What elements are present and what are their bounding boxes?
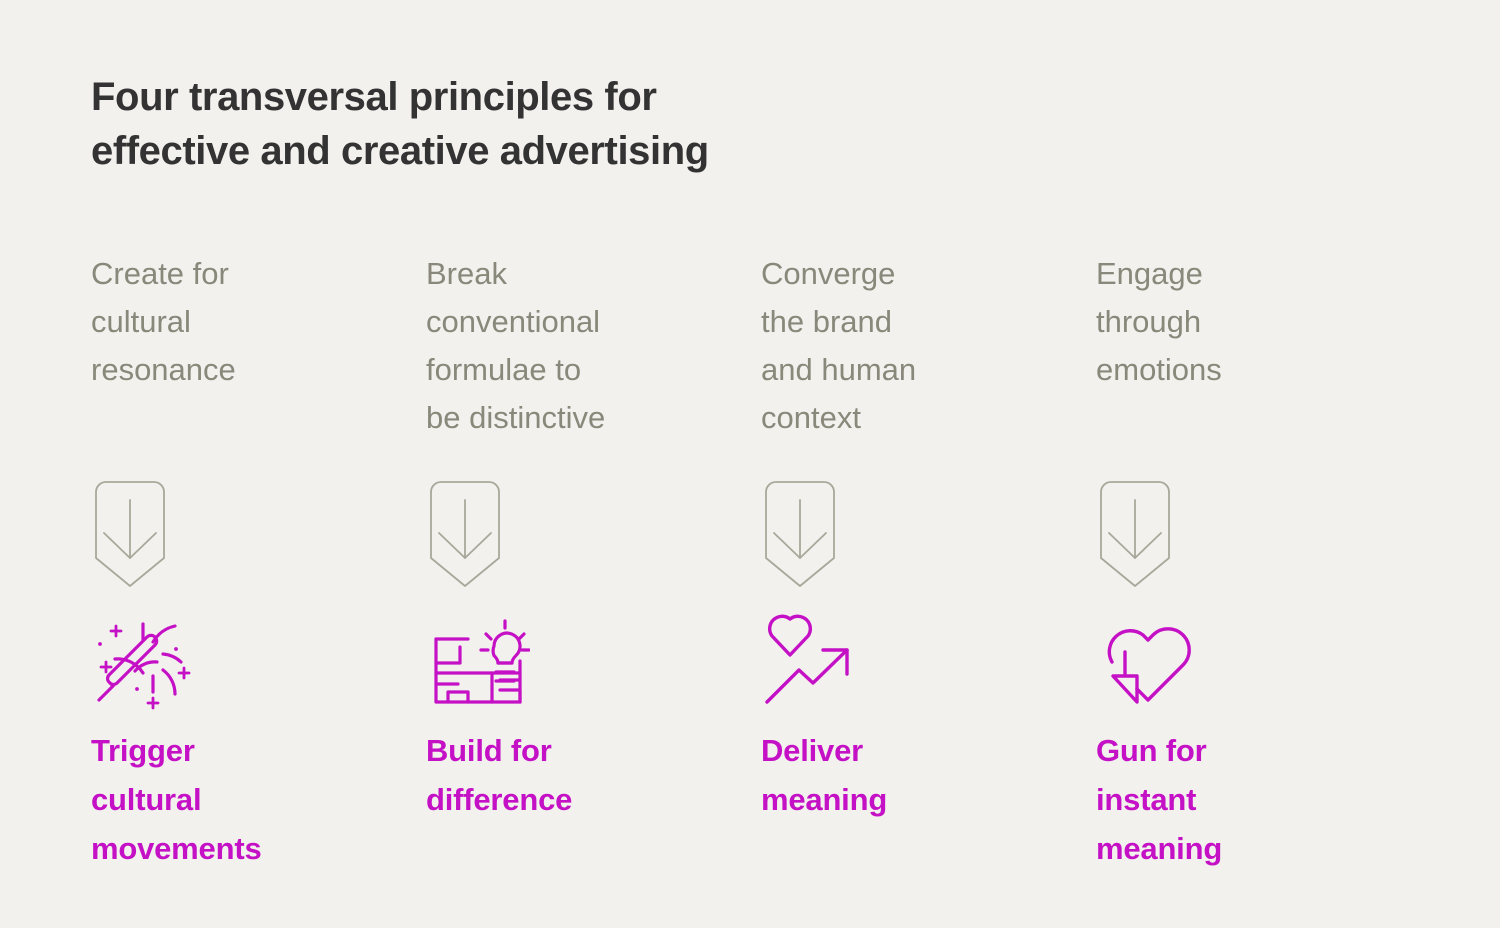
- shield-down-arrow-icon: [1097, 478, 1173, 590]
- page-title: Four transversal principles for effectiv…: [91, 70, 991, 178]
- principles-columns: Create for cultural resonance: [91, 250, 1431, 890]
- shield-down-arrow-icon: [427, 478, 503, 590]
- slide-root: Four transversal principles for effectiv…: [0, 0, 1500, 928]
- principle-column-4: Engage through emotions Gun for instant …: [1096, 250, 1431, 890]
- principle-column-3: Converge the brand and human context De: [761, 250, 1096, 890]
- principle-column-2: Break conventional formulae to be distin…: [426, 250, 761, 890]
- principle-heading-2: Build for difference: [426, 726, 696, 824]
- heart-lightning-bolt-icon: [1096, 614, 1200, 710]
- heart-trend-arrow-icon: [761, 614, 865, 710]
- building-blueprint-lightbulb-icon: [426, 614, 530, 710]
- principle-lead-text-1: Create for cultural resonance: [91, 250, 341, 394]
- shield-down-arrow-icon: [762, 478, 838, 590]
- principle-heading-4: Gun for instant meaning: [1096, 726, 1366, 873]
- shield-down-arrow-icon: [92, 478, 168, 590]
- principle-lead-text-2: Break conventional formulae to be distin…: [426, 250, 676, 442]
- principle-lead-text-4: Engage through emotions: [1096, 250, 1346, 394]
- principle-heading-1: Trigger cultural movements: [91, 726, 361, 873]
- magic-wand-sparkles-icon: [91, 614, 195, 710]
- principle-column-1: Create for cultural resonance: [91, 250, 426, 890]
- principle-heading-3: Deliver meaning: [761, 726, 1031, 824]
- principle-lead-text-3: Converge the brand and human context: [761, 250, 1011, 442]
